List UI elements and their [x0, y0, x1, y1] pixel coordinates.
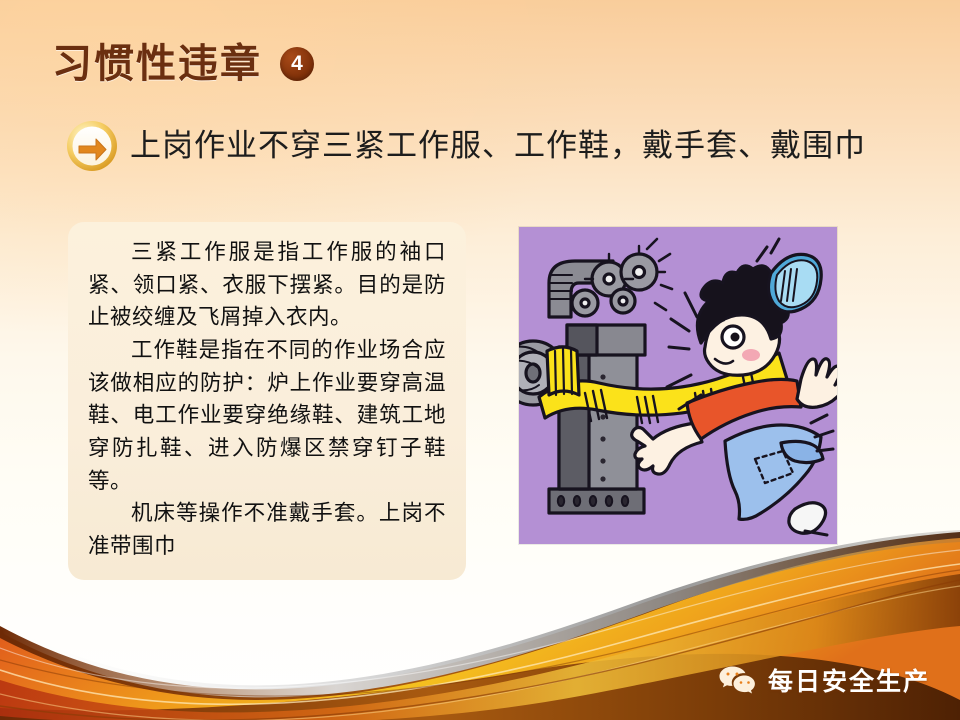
title-text: 习惯性违章 [52, 44, 262, 84]
footer-brand: 每日安全生产 [718, 662, 930, 698]
body-text-card: 三紧工作服是指工作服的袖口紧、领口紧、衣服下摆紧。目的是防止被绞缠及飞屑掉入衣内… [68, 222, 466, 580]
page-title: 习惯性违章 4 [52, 44, 314, 84]
circle-arrow-right-icon [66, 120, 118, 172]
slide-root: 习惯性违章 4 [0, 0, 960, 720]
safety-cartoon-illustration [519, 227, 837, 544]
body-paragraph-1: 三紧工作服是指工作服的袖口紧、领口紧、衣服下摆紧。目的是防止被绞缠及飞屑掉入衣内… [88, 236, 446, 334]
brand-name: 每日安全生产 [768, 662, 930, 698]
subtitle-text: 上岗作业不穿三紧工作服、工作鞋，戴手套、戴围巾 [130, 129, 866, 163]
wechat-icon [718, 664, 758, 696]
body-paragraph-2: 工作鞋是指在不同的作业场合应该做相应的防护：炉上作业要穿高温鞋、电工作业要穿绝缘… [88, 334, 446, 497]
cartoon-svg [519, 227, 837, 544]
status-badge: 4 [280, 47, 314, 81]
subtitle-row: 上岗作业不穿三紧工作服、工作鞋，戴手套、戴围巾 [66, 120, 866, 172]
